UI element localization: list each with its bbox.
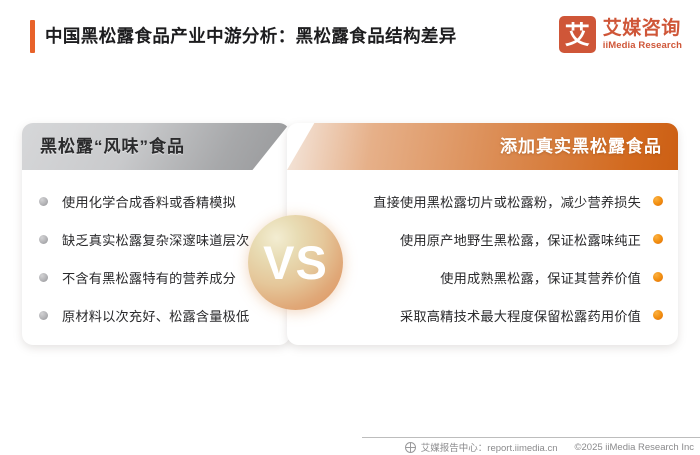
logo-mark-glyph: 艾 bbox=[559, 22, 596, 47]
page-footer: 艾媒报告中心：report.iimedia.cn ©2025 iiMedia R… bbox=[362, 439, 700, 455]
list-item-label: 原材料以次充好、松露含量极低 bbox=[62, 306, 249, 325]
footer-divider bbox=[362, 437, 700, 438]
list-item: 使用化学合成香料或香精模拟 bbox=[22, 182, 290, 220]
list-item-label: 采取高精技术最大程度保留松露药用价值 bbox=[400, 306, 641, 325]
logo-mark-icon: 艾 bbox=[559, 16, 596, 53]
versus-badge: VS bbox=[248, 215, 343, 310]
bullet-dot-icon bbox=[653, 272, 663, 282]
bullet-dot-icon bbox=[653, 310, 663, 320]
list-item-label: 缺乏真实松露复杂深邃味道层次 bbox=[62, 230, 249, 249]
logo-name-en: iiMedia Research bbox=[603, 41, 682, 51]
bullet-dot-icon bbox=[653, 196, 663, 206]
list-item-label: 使用原产地野生黑松露，保证松露味纯正 bbox=[400, 230, 641, 249]
list-item-label: 不含有黑松露特有的营养成分 bbox=[62, 268, 236, 287]
logo-wordmark: 艾媒咨询 iiMedia Research bbox=[603, 19, 682, 51]
list-item: 原材料以次充好、松露含量极低 bbox=[22, 296, 290, 334]
versus-label: VS bbox=[263, 239, 328, 286]
bullet-dot-icon bbox=[39, 273, 48, 282]
footer-source: 艾媒报告中心：report.iimedia.cn bbox=[421, 440, 558, 454]
list-item-label: 使用成熟黑松露，保证其营养价值 bbox=[440, 268, 641, 287]
list-item: 使用成熟黑松露，保证其营养价值 bbox=[287, 258, 678, 296]
list-item: 采取高精技术最大程度保留松露药用价值 bbox=[287, 296, 678, 334]
panel-left-banner: 黑松露“风味”食品 bbox=[22, 123, 290, 170]
panel-flavor-food: 黑松露“风味”食品 使用化学合成香料或香精模拟 缺乏真实松露复杂深邃味道层次 不… bbox=[22, 123, 290, 345]
bullet-dot-icon bbox=[39, 197, 48, 206]
list-item: 直接使用黑松露切片或松露粉，减少营养损失 bbox=[287, 182, 678, 220]
panel-left-heading: 黑松露“风味”食品 bbox=[40, 123, 185, 170]
footer-copyright: ©2025 iiMedia Research Inc bbox=[575, 442, 694, 453]
comparison-board: 黑松露“风味”食品 使用化学合成香料或香精模拟 缺乏真实松露复杂深邃味道层次 不… bbox=[0, 108, 700, 358]
bullet-dot-icon bbox=[39, 311, 48, 320]
page-title: 中国黑松露食品产业中游分析：黑松露食品结构差异 bbox=[45, 19, 457, 53]
panel-right-heading: 添加真实黑松露食品 bbox=[500, 123, 662, 170]
panel-right-list: 直接使用黑松露切片或松露粉，减少营养损失 使用原产地野生黑松露，保证松露味纯正 … bbox=[287, 170, 678, 345]
list-item-label: 使用化学合成香料或香精模拟 bbox=[62, 192, 236, 211]
brand-logo: 艾 艾媒咨询 iiMedia Research bbox=[559, 16, 682, 53]
title-accent-bar bbox=[30, 20, 35, 53]
globe-icon bbox=[405, 442, 416, 453]
list-item-label: 直接使用黑松露切片或松露粉，减少营养损失 bbox=[373, 192, 641, 211]
page-header: 中国黑松露食品产业中游分析：黑松露食品结构差异 艾 艾媒咨询 iiMedia R… bbox=[0, 0, 700, 72]
bullet-dot-icon bbox=[653, 234, 663, 244]
logo-name-cn: 艾媒咨询 bbox=[603, 19, 682, 38]
list-item: 使用原产地野生黑松露，保证松露味纯正 bbox=[287, 220, 678, 258]
panel-real-truffle-food: 添加真实黑松露食品 直接使用黑松露切片或松露粉，减少营养损失 使用原产地野生黑松… bbox=[287, 123, 678, 345]
bullet-dot-icon bbox=[39, 235, 48, 244]
panel-right-banner: 添加真实黑松露食品 bbox=[287, 123, 678, 170]
